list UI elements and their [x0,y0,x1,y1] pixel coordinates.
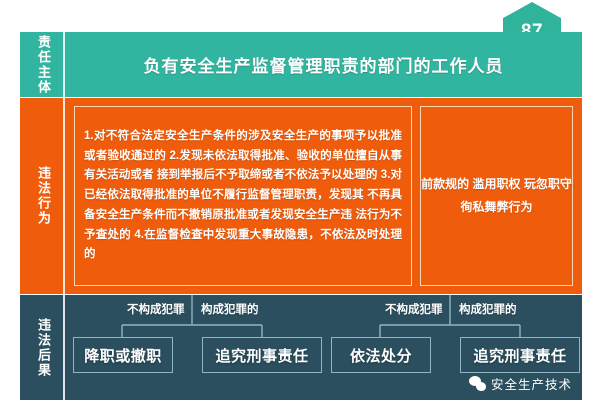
diagram-stage: 责任主体 负有安全生产监督管理职责的部门的工作人员 违法行为 1.对不符合法定安… [20,32,582,400]
outcome-box-demotion[interactable]: 降职或撤职 [73,337,173,373]
row-label-subject: 责任主体 [20,32,65,97]
row-label-conduct-text: 违法行为 [35,166,50,226]
condition-crime-2: 构成犯罪的 [459,301,517,317]
row-consequence: 违法后果 [20,295,582,400]
row-label-subject-text: 责任主体 [35,35,50,95]
row-label-consequence: 违法后果 [20,295,65,400]
condition-crime-1: 构成犯罪的 [201,301,259,317]
conduct-content: 1.对不符合法定安全生产条件的涉及安全生产的事项予以批准或者验收通过的 2.发现… [65,98,582,294]
outcome-box-criminal-2[interactable]: 追究刑事责任 [460,337,580,373]
condition-no-crime-1: 不构成犯罪 [127,301,185,317]
conduct-box-left-text: 1.对不符合法定安全生产条件的涉及安全生产的事项予以批准或者验收通过的 2.发现… [84,127,402,265]
condition-no-crime-2: 不构成犯罪 [385,301,443,317]
watermark-label: 安全生产技术 [491,374,572,393]
conduct-box-right-text: 前款规的 滥用职权 玩忽职守 徇私舞弊行为 [421,173,572,219]
outcome-box-criminal-1[interactable]: 追究刑事责任 [202,337,322,373]
subject-content: 负有安全生产监督管理职责的部门的工作人员 [65,32,582,97]
outcome-box-discipline[interactable]: 依法处分 [331,337,431,373]
row-label-conduct: 违法行为 [20,98,65,294]
wechat-icon [469,376,486,391]
conduct-box-right: 前款规的 滥用职权 玩忽职守 徇私舞弊行为 [420,106,573,286]
slide-canvas: 87 责任主体 负有安全生产监督管理职责的部门的工作人员 违法行为 1.对不符合… [0,0,600,415]
conduct-box-left: 1.对不符合法定安全生产条件的涉及安全生产的事项予以批准或者验收通过的 2.发现… [74,106,412,286]
consequence-tree: 不构成犯罪 构成犯罪的 不构成犯罪 构成犯罪的 降职或撤职 追究刑事责任 依法处… [65,295,582,400]
subject-title: 负有安全生产监督管理职责的部门的工作人员 [144,52,504,77]
row-subject: 责任主体 负有安全生产监督管理职责的部门的工作人员 [20,32,582,97]
consequence-content: 不构成犯罪 构成犯罪的 不构成犯罪 构成犯罪的 降职或撤职 追究刑事责任 依法处… [65,295,582,400]
row-conduct: 违法行为 1.对不符合法定安全生产条件的涉及安全生产的事项予以批准或者验收通过的… [20,98,582,294]
row-label-consequence-text: 违法后果 [35,318,50,378]
footer-watermark: 安全生产技术 [469,374,572,393]
